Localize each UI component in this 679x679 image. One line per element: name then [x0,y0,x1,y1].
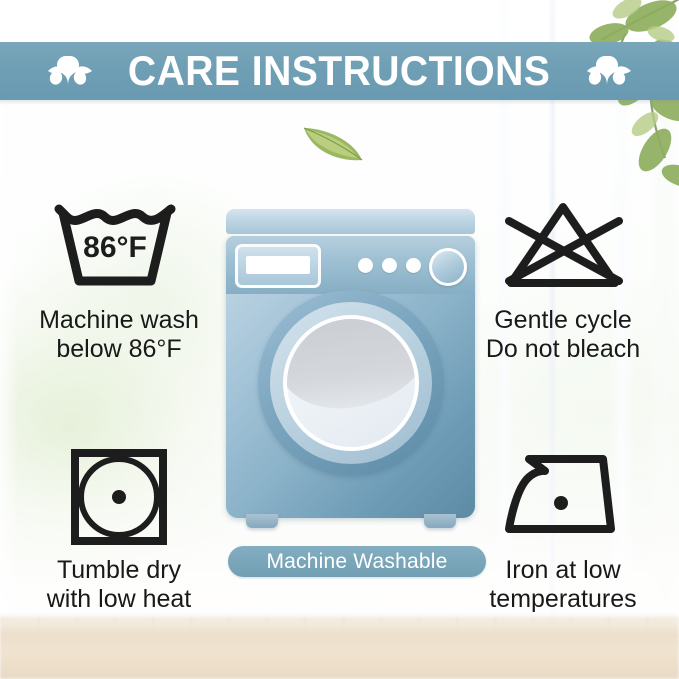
machine-body [226,236,475,518]
care-caption-do-not-bleach: Gentle cycle Do not bleach [452,306,674,363]
washing-machine-illustration [226,208,475,520]
machine-door-outer-ring [258,290,444,476]
machine-display [235,244,321,288]
tumble-dry-icon-wrap [8,440,230,550]
machine-drum-swirl [283,315,419,415]
machine-control-knob [429,248,467,286]
machine-top-lid [226,208,475,234]
tumble-dry-low-heat-icon [59,445,179,545]
care-instructions-infographic: CARE INSTRUCTIONS 86°F Machine wash belo… [0,0,679,679]
iron-low-temperature-icon [493,445,633,545]
care-symbol-machine-wash: 86°F Machine wash below 86°F [8,190,230,363]
page-title: CARE INSTRUCTIONS [128,50,550,92]
machine-button-1 [358,258,373,273]
machine-washable-badge: Machine Washable [228,546,486,577]
wash-temperature-value: 86°F [83,231,147,264]
machine-foot-right [424,514,456,528]
care-caption-machine-wash: Machine wash below 86°F [8,306,230,363]
machine-button-2 [382,258,397,273]
machine-door-inner-ring [270,302,432,464]
wash-tub-icon-wrap: 86°F [8,190,230,300]
wooden-surface [0,617,679,679]
machine-washable-badge-label: Machine Washable [266,551,447,572]
care-symbol-iron: Iron at low temperatures [452,440,674,613]
care-symbol-do-not-bleach: Gentle cycle Do not bleach [452,190,674,363]
machine-door-glass [283,315,419,451]
fleur-de-lis-icon-right [585,50,633,92]
wash-tub-icon: 86°F [49,195,189,295]
care-caption-tumble-dry: Tumble dry with low heat [8,556,230,613]
machine-control-panel [226,236,475,294]
machine-foot-left [246,514,278,528]
floating-leaf-icon [300,120,366,166]
banner-shadow [0,100,679,105]
care-symbol-tumble-dry: Tumble dry with low heat [8,440,230,613]
do-not-bleach-triangle-icon [493,195,633,295]
header-banner: CARE INSTRUCTIONS [0,42,679,100]
do-not-bleach-icon-wrap [452,190,674,300]
iron-icon-wrap [452,440,674,550]
fleur-de-lis-icon-left [46,50,94,92]
machine-button-3 [406,258,421,273]
